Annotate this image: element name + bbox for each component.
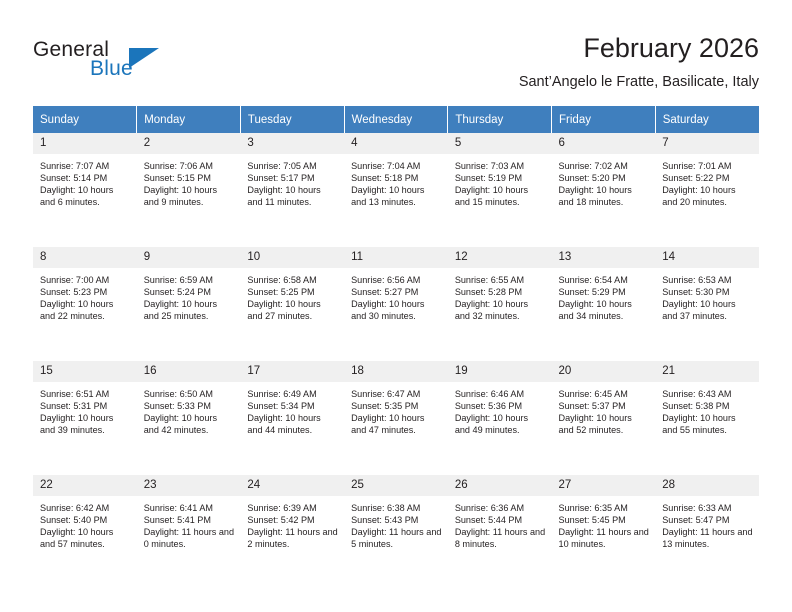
calendar-day-cell[interactable]: 21Sunrise: 6:43 AMSunset: 5:38 PMDayligh… <box>655 361 759 469</box>
day-details: Sunrise: 7:02 AMSunset: 5:20 PMDaylight:… <box>552 155 656 208</box>
daylight-text: Daylight: 10 hours and 15 minutes. <box>455 184 546 208</box>
sunrise-text: Sunrise: 7:05 AM <box>247 160 338 172</box>
daylight-text: Daylight: 10 hours and 52 minutes. <box>559 412 650 436</box>
logo-triangle-icon <box>129 48 159 68</box>
sunset-text: Sunset: 5:37 PM <box>559 400 650 412</box>
day-cell-inner: 21Sunrise: 6:43 AMSunset: 5:38 PMDayligh… <box>655 361 759 468</box>
day-cell-inner: 25Sunrise: 6:38 AMSunset: 5:43 PMDayligh… <box>344 475 448 582</box>
sunrise-text: Sunrise: 6:53 AM <box>662 274 753 286</box>
calendar-day-cell[interactable]: 11Sunrise: 6:56 AMSunset: 5:27 PMDayligh… <box>344 247 448 355</box>
sunset-text: Sunset: 5:17 PM <box>247 172 338 184</box>
sunset-text: Sunset: 5:41 PM <box>144 514 235 526</box>
calendar-header-row: SundayMondayTuesdayWednesdayThursdayFrid… <box>33 106 759 133</box>
day-cell-inner: 14Sunrise: 6:53 AMSunset: 5:30 PMDayligh… <box>655 247 759 354</box>
daylight-text: Daylight: 11 hours and 10 minutes. <box>559 526 650 550</box>
day-cell-inner: 2Sunrise: 7:06 AMSunset: 5:15 PMDaylight… <box>137 133 241 240</box>
daylight-text: Daylight: 10 hours and 13 minutes. <box>351 184 442 208</box>
sunset-text: Sunset: 5:22 PM <box>662 172 753 184</box>
day-details: Sunrise: 7:03 AMSunset: 5:19 PMDaylight:… <box>448 155 552 208</box>
daylight-text: Daylight: 10 hours and 49 minutes. <box>455 412 546 436</box>
daylight-text: Daylight: 10 hours and 20 minutes. <box>662 184 753 208</box>
daylight-text: Daylight: 11 hours and 8 minutes. <box>455 526 546 550</box>
daylight-text: Daylight: 10 hours and 11 minutes. <box>247 184 338 208</box>
sunset-text: Sunset: 5:34 PM <box>247 400 338 412</box>
day-details: Sunrise: 6:55 AMSunset: 5:28 PMDaylight:… <box>448 269 552 322</box>
daylight-text: Daylight: 10 hours and 55 minutes. <box>662 412 753 436</box>
day-number: 21 <box>655 361 759 383</box>
day-number: 15 <box>33 361 137 383</box>
day-number: 16 <box>137 361 241 383</box>
general-blue-logo[interactable]: General Blue <box>33 38 213 86</box>
sunrise-text: Sunrise: 7:02 AM <box>559 160 650 172</box>
day-number: 25 <box>344 475 448 497</box>
calendar-day-cell[interactable]: 28Sunrise: 6:33 AMSunset: 5:47 PMDayligh… <box>655 475 759 583</box>
day-number: 9 <box>137 247 241 269</box>
sunset-text: Sunset: 5:27 PM <box>351 286 442 298</box>
daylight-text: Daylight: 11 hours and 5 minutes. <box>351 526 442 550</box>
day-number: 8 <box>33 247 137 269</box>
day-cell-inner: 26Sunrise: 6:36 AMSunset: 5:44 PMDayligh… <box>448 475 552 582</box>
day-cell-inner: 3Sunrise: 7:05 AMSunset: 5:17 PMDaylight… <box>240 133 344 240</box>
day-details: Sunrise: 6:56 AMSunset: 5:27 PMDaylight:… <box>344 269 448 322</box>
day-number: 10 <box>240 247 344 269</box>
title-block: February 2026 Sant’Angelo le Fratte, Bas… <box>519 32 759 92</box>
calendar-day-cell[interactable]: 18Sunrise: 6:47 AMSunset: 5:35 PMDayligh… <box>344 361 448 469</box>
day-details: Sunrise: 6:41 AMSunset: 5:41 PMDaylight:… <box>137 497 241 550</box>
calendar-day-cell[interactable]: 4Sunrise: 7:04 AMSunset: 5:18 PMDaylight… <box>344 133 448 241</box>
calendar-day-cell[interactable]: 20Sunrise: 6:45 AMSunset: 5:37 PMDayligh… <box>552 361 656 469</box>
day-details: Sunrise: 6:45 AMSunset: 5:37 PMDaylight:… <box>552 383 656 436</box>
day-details: Sunrise: 6:35 AMSunset: 5:45 PMDaylight:… <box>552 497 656 550</box>
weekday-header-tuesday: Tuesday <box>240 106 344 133</box>
sunrise-text: Sunrise: 7:06 AM <box>144 160 235 172</box>
sunrise-text: Sunrise: 6:45 AM <box>559 388 650 400</box>
day-number: 27 <box>552 475 656 497</box>
day-number: 2 <box>137 133 241 155</box>
day-details: Sunrise: 6:36 AMSunset: 5:44 PMDaylight:… <box>448 497 552 550</box>
sunrise-text: Sunrise: 7:00 AM <box>40 274 131 286</box>
calendar-day-cell[interactable]: 26Sunrise: 6:36 AMSunset: 5:44 PMDayligh… <box>448 475 552 583</box>
daylight-text: Daylight: 10 hours and 30 minutes. <box>351 298 442 322</box>
day-cell-inner: 7Sunrise: 7:01 AMSunset: 5:22 PMDaylight… <box>655 133 759 240</box>
day-cell-inner: 28Sunrise: 6:33 AMSunset: 5:47 PMDayligh… <box>655 475 759 582</box>
weekday-header-thursday: Thursday <box>448 106 552 133</box>
day-cell-inner: 15Sunrise: 6:51 AMSunset: 5:31 PMDayligh… <box>33 361 137 468</box>
day-details: Sunrise: 6:53 AMSunset: 5:30 PMDaylight:… <box>655 269 759 322</box>
sunset-text: Sunset: 5:36 PM <box>455 400 546 412</box>
day-number: 17 <box>240 361 344 383</box>
day-number: 20 <box>552 361 656 383</box>
day-number: 4 <box>344 133 448 155</box>
daylight-text: Daylight: 11 hours and 2 minutes. <box>247 526 338 550</box>
daylight-text: Daylight: 10 hours and 22 minutes. <box>40 298 131 322</box>
day-details: Sunrise: 6:50 AMSunset: 5:33 PMDaylight:… <box>137 383 241 436</box>
daylight-text: Daylight: 10 hours and 44 minutes. <box>247 412 338 436</box>
calendar-day-cell[interactable]: 17Sunrise: 6:49 AMSunset: 5:34 PMDayligh… <box>240 361 344 469</box>
day-cell-inner: 4Sunrise: 7:04 AMSunset: 5:18 PMDaylight… <box>344 133 448 240</box>
sunrise-text: Sunrise: 6:33 AM <box>662 502 753 514</box>
logo-text-blue: Blue <box>90 57 133 81</box>
daylight-text: Daylight: 11 hours and 13 minutes. <box>662 526 753 550</box>
sunset-text: Sunset: 5:33 PM <box>144 400 235 412</box>
sunrise-text: Sunrise: 6:41 AM <box>144 502 235 514</box>
calendar-day-cell[interactable]: 25Sunrise: 6:38 AMSunset: 5:43 PMDayligh… <box>344 475 448 583</box>
calendar-day-cell[interactable]: 6Sunrise: 7:02 AMSunset: 5:20 PMDaylight… <box>552 133 656 241</box>
daylight-text: Daylight: 10 hours and 34 minutes. <box>559 298 650 322</box>
day-number: 18 <box>344 361 448 383</box>
daylight-text: Daylight: 10 hours and 57 minutes. <box>40 526 131 550</box>
day-details: Sunrise: 6:33 AMSunset: 5:47 PMDaylight:… <box>655 497 759 550</box>
day-cell-inner: 10Sunrise: 6:58 AMSunset: 5:25 PMDayligh… <box>240 247 344 354</box>
day-number: 5 <box>448 133 552 155</box>
sunrise-text: Sunrise: 6:35 AM <box>559 502 650 514</box>
day-details: Sunrise: 7:00 AMSunset: 5:23 PMDaylight:… <box>33 269 137 322</box>
sunrise-text: Sunrise: 6:38 AM <box>351 502 442 514</box>
sunrise-text: Sunrise: 6:56 AM <box>351 274 442 286</box>
sunset-text: Sunset: 5:25 PM <box>247 286 338 298</box>
calendar-day-cell[interactable]: 27Sunrise: 6:35 AMSunset: 5:45 PMDayligh… <box>552 475 656 583</box>
sunset-text: Sunset: 5:43 PM <box>351 514 442 526</box>
day-cell-inner: 24Sunrise: 6:39 AMSunset: 5:42 PMDayligh… <box>240 475 344 582</box>
calendar-week-row: 8Sunrise: 7:00 AMSunset: 5:23 PMDaylight… <box>33 247 759 355</box>
day-number: 26 <box>448 475 552 497</box>
day-cell-inner: 18Sunrise: 6:47 AMSunset: 5:35 PMDayligh… <box>344 361 448 468</box>
day-cell-inner: 6Sunrise: 7:02 AMSunset: 5:20 PMDaylight… <box>552 133 656 240</box>
day-cell-inner: 5Sunrise: 7:03 AMSunset: 5:19 PMDaylight… <box>448 133 552 240</box>
sunset-text: Sunset: 5:18 PM <box>351 172 442 184</box>
weekday-header-saturday: Saturday <box>655 106 759 133</box>
weekday-header-wednesday: Wednesday <box>344 106 448 133</box>
day-details: Sunrise: 7:06 AMSunset: 5:15 PMDaylight:… <box>137 155 241 208</box>
sunset-text: Sunset: 5:38 PM <box>662 400 753 412</box>
day-details: Sunrise: 7:01 AMSunset: 5:22 PMDaylight:… <box>655 155 759 208</box>
day-details: Sunrise: 7:07 AMSunset: 5:14 PMDaylight:… <box>33 155 137 208</box>
day-cell-inner: 19Sunrise: 6:46 AMSunset: 5:36 PMDayligh… <box>448 361 552 468</box>
day-cell-inner: 23Sunrise: 6:41 AMSunset: 5:41 PMDayligh… <box>137 475 241 582</box>
day-details: Sunrise: 6:38 AMSunset: 5:43 PMDaylight:… <box>344 497 448 550</box>
sunset-text: Sunset: 5:31 PM <box>40 400 131 412</box>
calendar-day-cell[interactable]: 3Sunrise: 7:05 AMSunset: 5:17 PMDaylight… <box>240 133 344 241</box>
sunrise-text: Sunrise: 6:43 AM <box>662 388 753 400</box>
day-cell-inner: 11Sunrise: 6:56 AMSunset: 5:27 PMDayligh… <box>344 247 448 354</box>
sunset-text: Sunset: 5:19 PM <box>455 172 546 184</box>
calendar-week-row: 15Sunrise: 6:51 AMSunset: 5:31 PMDayligh… <box>33 361 759 469</box>
calendar-day-cell[interactable]: 12Sunrise: 6:55 AMSunset: 5:28 PMDayligh… <box>448 247 552 355</box>
day-details: Sunrise: 6:49 AMSunset: 5:34 PMDaylight:… <box>240 383 344 436</box>
day-number: 22 <box>33 475 137 497</box>
day-number: 13 <box>552 247 656 269</box>
day-number: 12 <box>448 247 552 269</box>
daylight-text: Daylight: 10 hours and 27 minutes. <box>247 298 338 322</box>
calendar-day-cell[interactable]: 5Sunrise: 7:03 AMSunset: 5:19 PMDaylight… <box>448 133 552 241</box>
calendar-table: SundayMondayTuesdayWednesdayThursdayFrid… <box>33 106 759 583</box>
calendar-body: 1Sunrise: 7:07 AMSunset: 5:14 PMDaylight… <box>33 133 759 583</box>
daylight-text: Daylight: 10 hours and 25 minutes. <box>144 298 235 322</box>
sunset-text: Sunset: 5:35 PM <box>351 400 442 412</box>
sunrise-text: Sunrise: 6:36 AM <box>455 502 546 514</box>
sunset-text: Sunset: 5:44 PM <box>455 514 546 526</box>
sunrise-text: Sunrise: 6:50 AM <box>144 388 235 400</box>
daylight-text: Daylight: 10 hours and 32 minutes. <box>455 298 546 322</box>
calendar-week-row: 1Sunrise: 7:07 AMSunset: 5:14 PMDaylight… <box>33 133 759 241</box>
calendar-page: General Blue February 2026 Sant’Angelo l… <box>0 0 792 612</box>
calendar-day-cell[interactable]: 19Sunrise: 6:46 AMSunset: 5:36 PMDayligh… <box>448 361 552 469</box>
calendar-day-cell[interactable]: 14Sunrise: 6:53 AMSunset: 5:30 PMDayligh… <box>655 247 759 355</box>
sunset-text: Sunset: 5:15 PM <box>144 172 235 184</box>
day-number: 14 <box>655 247 759 269</box>
calendar-day-cell[interactable]: 10Sunrise: 6:58 AMSunset: 5:25 PMDayligh… <box>240 247 344 355</box>
sunrise-text: Sunrise: 7:04 AM <box>351 160 442 172</box>
calendar-day-cell[interactable]: 9Sunrise: 6:59 AMSunset: 5:24 PMDaylight… <box>137 247 241 355</box>
calendar-day-cell[interactable]: 16Sunrise: 6:50 AMSunset: 5:33 PMDayligh… <box>137 361 241 469</box>
day-details: Sunrise: 7:04 AMSunset: 5:18 PMDaylight:… <box>344 155 448 208</box>
day-details: Sunrise: 6:59 AMSunset: 5:24 PMDaylight:… <box>137 269 241 322</box>
day-cell-inner: 1Sunrise: 7:07 AMSunset: 5:14 PMDaylight… <box>33 133 137 240</box>
day-cell-inner: 16Sunrise: 6:50 AMSunset: 5:33 PMDayligh… <box>137 361 241 468</box>
sunset-text: Sunset: 5:23 PM <box>40 286 131 298</box>
calendar-day-cell[interactable]: 1Sunrise: 7:07 AMSunset: 5:14 PMDaylight… <box>33 133 137 241</box>
day-cell-inner: 9Sunrise: 6:59 AMSunset: 5:24 PMDaylight… <box>137 247 241 354</box>
page-title: February 2026 <box>519 32 759 64</box>
calendar-day-cell[interactable]: 13Sunrise: 6:54 AMSunset: 5:29 PMDayligh… <box>552 247 656 355</box>
sunset-text: Sunset: 5:45 PM <box>559 514 650 526</box>
day-cell-inner: 27Sunrise: 6:35 AMSunset: 5:45 PMDayligh… <box>552 475 656 582</box>
day-cell-inner: 12Sunrise: 6:55 AMSunset: 5:28 PMDayligh… <box>448 247 552 354</box>
calendar-day-cell[interactable]: 7Sunrise: 7:01 AMSunset: 5:22 PMDaylight… <box>655 133 759 241</box>
day-details: Sunrise: 6:43 AMSunset: 5:38 PMDaylight:… <box>655 383 759 436</box>
calendar-day-cell[interactable]: 22Sunrise: 6:42 AMSunset: 5:40 PMDayligh… <box>33 475 137 583</box>
sunset-text: Sunset: 5:29 PM <box>559 286 650 298</box>
day-details: Sunrise: 6:47 AMSunset: 5:35 PMDaylight:… <box>344 383 448 436</box>
daylight-text: Daylight: 10 hours and 42 minutes. <box>144 412 235 436</box>
day-cell-inner: 20Sunrise: 6:45 AMSunset: 5:37 PMDayligh… <box>552 361 656 468</box>
sunset-text: Sunset: 5:20 PM <box>559 172 650 184</box>
day-details: Sunrise: 6:39 AMSunset: 5:42 PMDaylight:… <box>240 497 344 550</box>
daylight-text: Daylight: 10 hours and 37 minutes. <box>662 298 753 322</box>
day-number: 24 <box>240 475 344 497</box>
sunrise-text: Sunrise: 6:51 AM <box>40 388 131 400</box>
calendar-day-cell[interactable]: 24Sunrise: 6:39 AMSunset: 5:42 PMDayligh… <box>240 475 344 583</box>
sunrise-text: Sunrise: 6:54 AM <box>559 274 650 286</box>
weekday-header-sunday: Sunday <box>33 106 137 133</box>
sunset-text: Sunset: 5:47 PM <box>662 514 753 526</box>
sunrise-text: Sunrise: 6:47 AM <box>351 388 442 400</box>
day-details: Sunrise: 6:58 AMSunset: 5:25 PMDaylight:… <box>240 269 344 322</box>
sunset-text: Sunset: 5:14 PM <box>40 172 131 184</box>
sunrise-text: Sunrise: 7:01 AM <box>662 160 753 172</box>
sunrise-text: Sunrise: 7:03 AM <box>455 160 546 172</box>
sunset-text: Sunset: 5:40 PM <box>40 514 131 526</box>
sunrise-text: Sunrise: 6:39 AM <box>247 502 338 514</box>
day-number: 11 <box>344 247 448 269</box>
sunrise-text: Sunrise: 6:42 AM <box>40 502 131 514</box>
day-details: Sunrise: 6:46 AMSunset: 5:36 PMDaylight:… <box>448 383 552 436</box>
weekday-header-friday: Friday <box>552 106 656 133</box>
sunset-text: Sunset: 5:28 PM <box>455 286 546 298</box>
day-number: 28 <box>655 475 759 497</box>
calendar-day-cell[interactable]: 2Sunrise: 7:06 AMSunset: 5:15 PMDaylight… <box>137 133 241 241</box>
daylight-text: Daylight: 10 hours and 9 minutes. <box>144 184 235 208</box>
sunset-text: Sunset: 5:24 PM <box>144 286 235 298</box>
day-number: 23 <box>137 475 241 497</box>
weekday-header-monday: Monday <box>137 106 241 133</box>
daylight-text: Daylight: 11 hours and 0 minutes. <box>144 526 235 550</box>
sunrise-text: Sunrise: 6:49 AM <box>247 388 338 400</box>
daylight-text: Daylight: 10 hours and 47 minutes. <box>351 412 442 436</box>
sunset-text: Sunset: 5:30 PM <box>662 286 753 298</box>
day-cell-inner: 8Sunrise: 7:00 AMSunset: 5:23 PMDaylight… <box>33 247 137 354</box>
day-cell-inner: 13Sunrise: 6:54 AMSunset: 5:29 PMDayligh… <box>552 247 656 354</box>
day-number: 19 <box>448 361 552 383</box>
day-details: Sunrise: 7:05 AMSunset: 5:17 PMDaylight:… <box>240 155 344 208</box>
page-header: General Blue February 2026 Sant’Angelo l… <box>0 0 792 100</box>
day-details: Sunrise: 6:54 AMSunset: 5:29 PMDaylight:… <box>552 269 656 322</box>
daylight-text: Daylight: 10 hours and 39 minutes. <box>40 412 131 436</box>
page-subtitle: Sant’Angelo le Fratte, Basilicate, Italy <box>519 72 759 92</box>
daylight-text: Daylight: 10 hours and 6 minutes. <box>40 184 131 208</box>
day-cell-inner: 17Sunrise: 6:49 AMSunset: 5:34 PMDayligh… <box>240 361 344 468</box>
day-number: 6 <box>552 133 656 155</box>
day-number: 3 <box>240 133 344 155</box>
day-number: 7 <box>655 133 759 155</box>
sunset-text: Sunset: 5:42 PM <box>247 514 338 526</box>
sunrise-text: Sunrise: 6:46 AM <box>455 388 546 400</box>
daylight-text: Daylight: 10 hours and 18 minutes. <box>559 184 650 208</box>
sunrise-text: Sunrise: 6:59 AM <box>144 274 235 286</box>
day-details: Sunrise: 6:42 AMSunset: 5:40 PMDaylight:… <box>33 497 137 550</box>
day-number: 1 <box>33 133 137 155</box>
sunrise-text: Sunrise: 6:58 AM <box>247 274 338 286</box>
calendar-day-cell[interactable]: 23Sunrise: 6:41 AMSunset: 5:41 PMDayligh… <box>137 475 241 583</box>
calendar-day-cell[interactable]: 8Sunrise: 7:00 AMSunset: 5:23 PMDaylight… <box>33 247 137 355</box>
day-details: Sunrise: 6:51 AMSunset: 5:31 PMDaylight:… <box>33 383 137 436</box>
day-cell-inner: 22Sunrise: 6:42 AMSunset: 5:40 PMDayligh… <box>33 475 137 582</box>
calendar-week-row: 22Sunrise: 6:42 AMSunset: 5:40 PMDayligh… <box>33 475 759 583</box>
sunrise-text: Sunrise: 7:07 AM <box>40 160 131 172</box>
sunrise-text: Sunrise: 6:55 AM <box>455 274 546 286</box>
calendar-day-cell[interactable]: 15Sunrise: 6:51 AMSunset: 5:31 PMDayligh… <box>33 361 137 469</box>
